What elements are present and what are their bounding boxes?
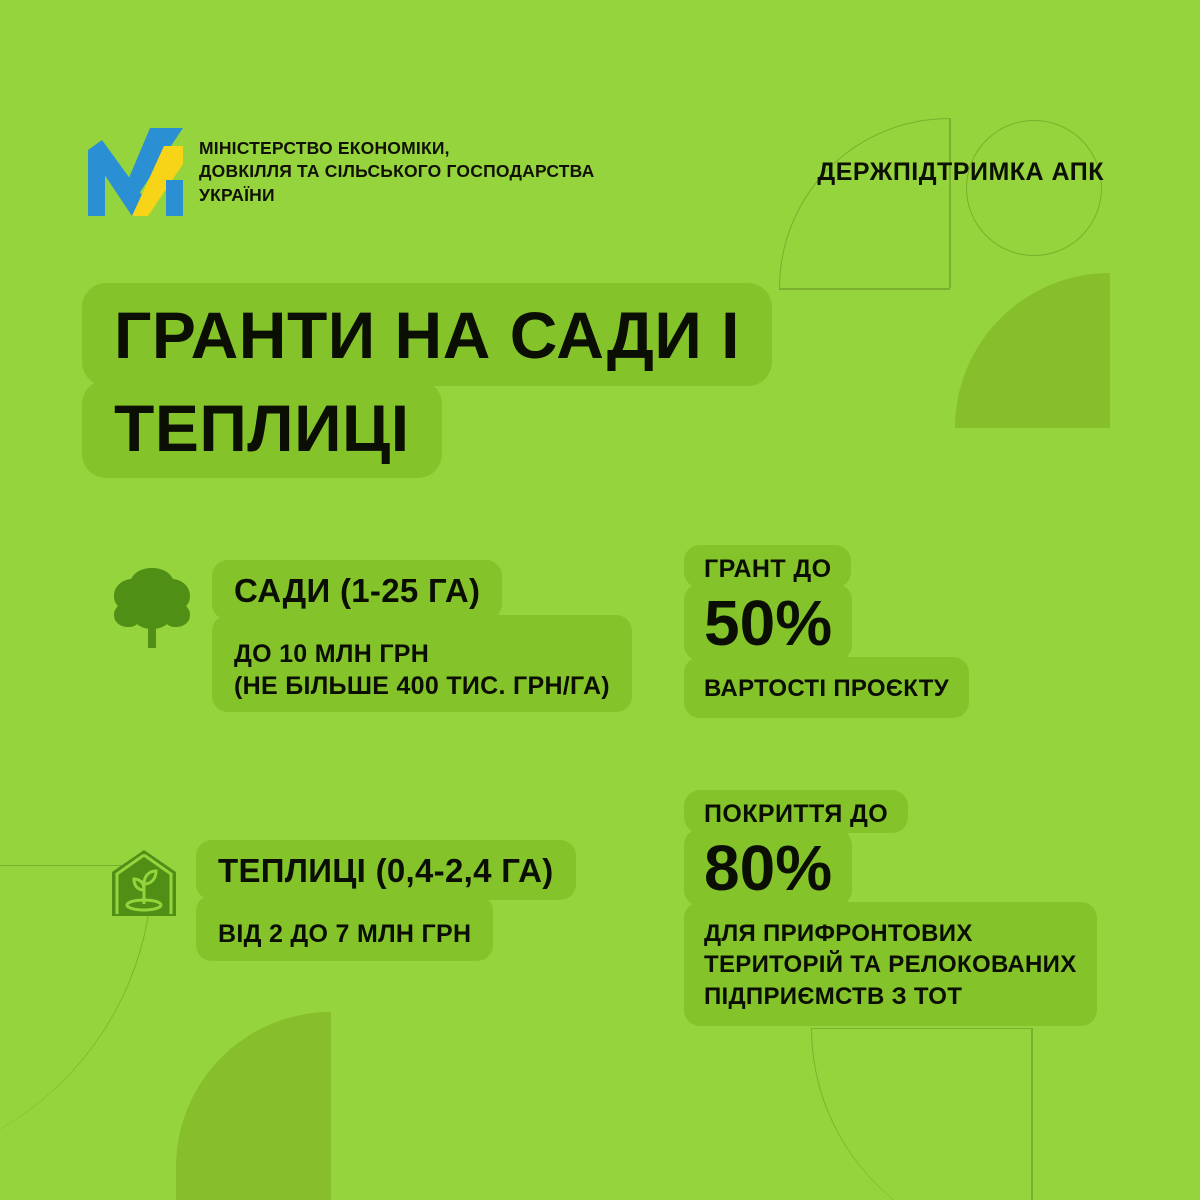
greenhouse-icon-glyph <box>108 846 180 918</box>
program-greenhouses-details: ВІД 2 ДО 7 МЛН ГРН <box>196 895 493 961</box>
program-greenhouses-card: ТЕПЛИЦІ (0,4-2,4 ГА) ВІД 2 ДО 7 МЛН ГРН <box>196 840 576 961</box>
poster-canvas: МІНІСТЕРСТВО ЕКОНОМІКИ, ДОВКІЛЛЯ ТА СІЛЬ… <box>0 0 1200 1200</box>
funding-coverage-80-value: 80% <box>684 829 852 906</box>
tree-icon <box>108 566 196 648</box>
program-gardens: САДИ (1-25 ГА) ДО 10 МЛН ГРН (НЕ БІЛЬШЕ … <box>108 560 632 712</box>
decor-quarter-circle-filled-top-right <box>955 273 1110 428</box>
header: МІНІСТЕРСТВО ЕКОНОМІКИ, ДОВКІЛЛЯ ТА СІЛЬ… <box>88 128 1112 216</box>
funding-grant-50-value: 50% <box>684 584 852 661</box>
funding-grant-50: ГРАНТ ДО 50% ВАРТОСТІ ПРОЄКТУ <box>684 545 969 718</box>
greenhouse-icon <box>108 846 180 918</box>
ministry-brand: МІНІСТЕРСТВО ЕКОНОМІКИ, ДОВКІЛЛЯ ТА СІЛЬ… <box>88 128 594 216</box>
funding-coverage-80-label: ПОКРИТТЯ ДО <box>684 790 908 833</box>
program-gardens-card: САДИ (1-25 ГА) ДО 10 МЛН ГРН (НЕ БІЛЬШЕ … <box>212 560 632 712</box>
ministry-name: МІНІСТЕРСТВО ЕКОНОМІКИ, ДОВКІЛЛЯ ТА СІЛЬ… <box>199 137 594 207</box>
page-title-line-2: ТЕПЛИЦІ <box>82 380 442 479</box>
decor-quarter-circle-outline-bottom-right <box>811 1028 1031 1200</box>
funding-grant-50-label: ГРАНТ ДО <box>684 545 851 588</box>
funding-coverage-80-note: ДЛЯ ПРИФРОНТОВИХ ТЕРИТОРІЙ ТА РЕЛОКОВАНИ… <box>684 902 1097 1026</box>
program-tag: ДЕРЖПІДТРИМКА АПК <box>817 158 1112 187</box>
program-gardens-heading: САДИ (1-25 ГА) <box>212 560 502 620</box>
program-greenhouses-heading: ТЕПЛИЦІ (0,4-2,4 ГА) <box>196 840 576 900</box>
decor-quarter-circle-filled-bottom-center <box>176 1012 331 1200</box>
funding-grant-50-note: ВАРТОСТІ ПРОЄКТУ <box>684 657 969 718</box>
ministry-m-logo-icon <box>88 128 183 216</box>
program-gardens-details: ДО 10 МЛН ГРН (НЕ БІЛЬШЕ 400 ТИС. ГРН/ГА… <box>212 615 632 712</box>
program-greenhouses: ТЕПЛИЦІ (0,4-2,4 ГА) ВІД 2 ДО 7 МЛН ГРН <box>108 840 576 961</box>
tree-icon-glyph <box>108 566 196 648</box>
page-title-line-1: ГРАНТИ НА САДИ І <box>82 283 772 386</box>
funding-coverage-80: ПОКРИТТЯ ДО 80% ДЛЯ ПРИФРОНТОВИХ ТЕРИТОР… <box>684 790 1097 1026</box>
page-title: ГРАНТИ НА САДИ І ТЕПЛИЦІ <box>82 283 772 478</box>
